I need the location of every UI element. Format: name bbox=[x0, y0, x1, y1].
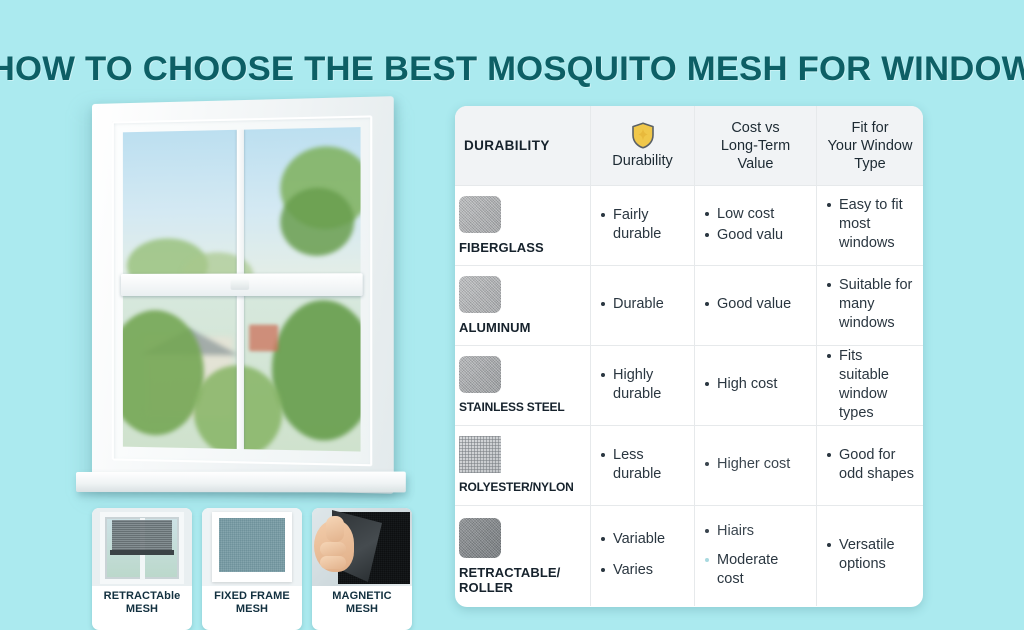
row-material-polyester-nylon: ROLYESTER/NYLON bbox=[455, 426, 591, 505]
cell-durability: Variable Varies bbox=[591, 506, 695, 606]
list-item: Highly durable bbox=[600, 366, 685, 404]
mesh-comparison-table: DURABILITY Durability Cost vs Long-Term … bbox=[455, 106, 923, 607]
thumb-window-frame bbox=[212, 512, 292, 582]
header-label-durability: DURABILITY bbox=[464, 138, 581, 153]
thumb-caption: RETRACTAble MESH bbox=[92, 586, 192, 630]
list-item: Variable bbox=[600, 530, 685, 549]
fit-list: Good for odd shapes bbox=[826, 446, 914, 486]
list-item: Good valu bbox=[704, 226, 807, 245]
cell-fit: Easy to fit most windows bbox=[817, 186, 923, 265]
thumb-caption: FIXED FRAME MESH bbox=[202, 586, 302, 630]
header-fit-line1: Fit for bbox=[851, 119, 888, 137]
header-cell-material: DURABILITY bbox=[455, 106, 591, 185]
thumb-caption-line1: FIXED FRAME bbox=[202, 590, 302, 603]
list-item: Good for odd shapes bbox=[826, 446, 914, 484]
header-fit-line2: Your Window bbox=[828, 137, 913, 155]
material-name: FIBERGLASS bbox=[459, 240, 581, 255]
fixed-mesh-panel bbox=[219, 518, 285, 572]
thumb-caption: MAGNETIC MESH bbox=[312, 586, 412, 630]
fit-list: Versatile options bbox=[826, 536, 914, 576]
finger bbox=[326, 516, 344, 542]
list-item: Varies bbox=[600, 561, 685, 580]
header-cost-line2: Long-Term bbox=[721, 137, 790, 155]
fixed-frame-mesh-thumb[interactable]: FIXED FRAME MESH bbox=[202, 508, 302, 630]
row-material-retractable-roller: RETRACTABLE/ ROLLER bbox=[455, 506, 591, 606]
shield-icon bbox=[631, 122, 655, 149]
window-frame bbox=[92, 96, 394, 494]
polyester-nylon-swatch bbox=[459, 436, 501, 473]
cost-list: Higher cost bbox=[704, 455, 807, 476]
durability-list: Less durable bbox=[600, 446, 685, 486]
row-material-fiberglass: FIBERGLASS bbox=[455, 186, 591, 265]
fit-list: Suitable for many windows bbox=[826, 276, 914, 335]
fixed-frame-mesh-image bbox=[202, 508, 302, 586]
window-latch bbox=[231, 280, 250, 290]
thumb-caption-line2: MESH bbox=[312, 603, 412, 616]
list-item: Versatile options bbox=[826, 536, 914, 574]
header-label-durability-icon: Durability bbox=[612, 152, 672, 170]
cell-cost: Good value bbox=[695, 266, 817, 345]
header-cell-fit: Fit for Your Window Type bbox=[817, 106, 923, 185]
aluminum-swatch bbox=[459, 276, 501, 313]
retractable-roller-swatch bbox=[459, 518, 501, 558]
red-sign bbox=[249, 325, 278, 352]
durability-list: Variable Varies bbox=[600, 530, 685, 582]
retractable-mesh-panel bbox=[112, 520, 172, 550]
list-item: Fairly durable bbox=[600, 206, 685, 244]
retractable-mesh-thumb[interactable]: RETRACTAble MESH bbox=[92, 508, 192, 630]
cell-durability: Durable bbox=[591, 266, 695, 345]
durability-list: Highly durable bbox=[600, 366, 685, 406]
header-cell-durability: Durability bbox=[591, 106, 695, 185]
window-upper-sash bbox=[123, 127, 361, 279]
mesh-type-thumbnails: RETRACTAble MESH FIXED FRAME MESH bbox=[92, 508, 422, 630]
cost-list: Hiairs Moderate cost bbox=[704, 522, 807, 591]
material-name-line2: ROLLER bbox=[459, 580, 581, 595]
window-mullion bbox=[237, 294, 244, 449]
list-item: Easy to fit most windows bbox=[826, 196, 914, 253]
list-item: Durable bbox=[600, 295, 685, 314]
cell-durability: Less durable bbox=[591, 426, 695, 505]
list-item: Hiairs bbox=[704, 522, 807, 541]
table-row: ROLYESTER/NYLON Less durable Higher cost… bbox=[455, 426, 923, 506]
window-meeting-rail bbox=[121, 273, 363, 296]
list-item: Higher cost bbox=[704, 455, 807, 474]
window-photo bbox=[78, 100, 408, 505]
magnetic-mesh-image bbox=[312, 508, 412, 586]
material-name: ROLYESTER/NYLON bbox=[459, 480, 581, 495]
cell-cost: High cost bbox=[695, 346, 817, 425]
finger bbox=[320, 542, 346, 556]
table-row: RETRACTABLE/ ROLLER Variable Varies Hiai… bbox=[455, 506, 923, 606]
thumb-window-frame bbox=[100, 512, 184, 584]
header-cell-cost: Cost vs Long-Term Value bbox=[695, 106, 817, 185]
window-lower-sash bbox=[123, 294, 361, 452]
thumb-caption-line1: MAGNETIC bbox=[312, 590, 412, 603]
magnetic-mesh-thumb[interactable]: MAGNETIC MESH bbox=[312, 508, 412, 630]
fit-list: Easy to fit most windows bbox=[826, 196, 914, 255]
row-material-stainless-steel: STAINLESS STEEL bbox=[455, 346, 591, 425]
list-item: Fits suitable window types bbox=[826, 347, 914, 423]
material-name: STAINLESS STEEL bbox=[459, 400, 581, 415]
table-header-row: DURABILITY Durability Cost vs Long-Term … bbox=[455, 106, 923, 186]
cell-durability: Fairly durable bbox=[591, 186, 695, 265]
cell-cost: Hiairs Moderate cost bbox=[695, 506, 817, 606]
fiberglass-swatch bbox=[459, 196, 501, 233]
page-title: HOW TO CHOOSE THE BEST MOSQUITO MESH FOR… bbox=[0, 50, 1024, 89]
cell-fit: Fits suitable window types bbox=[817, 346, 923, 425]
durability-list: Durable bbox=[600, 295, 685, 316]
retractable-mesh-image bbox=[92, 508, 192, 586]
window-sill bbox=[76, 472, 406, 493]
cell-fit: Suitable for many windows bbox=[817, 266, 923, 345]
infographic-page: HOW TO CHOOSE THE BEST MOSQUITO MESH FOR… bbox=[0, 0, 1024, 630]
tree-foliage bbox=[280, 187, 354, 256]
retractable-pull-bar bbox=[110, 550, 174, 555]
list-item: Good value bbox=[704, 295, 807, 314]
list-item: High cost bbox=[704, 375, 807, 394]
cost-list: Good value bbox=[704, 295, 807, 316]
thumb-caption-line1: RETRACTAble bbox=[92, 590, 192, 603]
list-item: Less durable bbox=[600, 446, 685, 484]
stainless-steel-swatch bbox=[459, 356, 501, 393]
header-cost-line1: Cost vs bbox=[731, 119, 779, 137]
header-cost-line3: Value bbox=[737, 155, 773, 173]
finger bbox=[320, 556, 346, 569]
table-row: STAINLESS STEEL Highly durable High cost… bbox=[455, 346, 923, 426]
cell-fit: Versatile options bbox=[817, 506, 923, 606]
table-row: FIBERGLASS Fairly durable Low cost Good … bbox=[455, 186, 923, 266]
list-item: Suitable for many windows bbox=[826, 276, 914, 333]
table-row: ALUMINUM Durable Good value Suitable for… bbox=[455, 266, 923, 346]
cell-durability: Highly durable bbox=[591, 346, 695, 425]
material-name-line1: RETRACTABLE/ bbox=[459, 565, 581, 580]
cell-cost: Higher cost bbox=[695, 426, 817, 505]
header-fit-line3: Type bbox=[854, 155, 885, 173]
list-item: Moderate cost bbox=[704, 551, 807, 589]
window-inner-frame bbox=[112, 115, 372, 466]
fit-list: Fits suitable window types bbox=[826, 347, 914, 425]
window-mullion bbox=[237, 130, 244, 279]
durability-list: Fairly durable bbox=[600, 206, 685, 246]
list-item: Low cost bbox=[704, 205, 807, 224]
thumb-caption-line2: MESH bbox=[92, 603, 192, 616]
cost-list: High cost bbox=[704, 375, 807, 396]
cost-list: Low cost Good valu bbox=[704, 205, 807, 247]
row-material-aluminum: ALUMINUM bbox=[455, 266, 591, 345]
material-name: ALUMINUM bbox=[459, 320, 581, 335]
thumb-caption-line2: MESH bbox=[202, 603, 302, 616]
cell-fit: Good for odd shapes bbox=[817, 426, 923, 505]
cell-cost: Low cost Good valu bbox=[695, 186, 817, 265]
